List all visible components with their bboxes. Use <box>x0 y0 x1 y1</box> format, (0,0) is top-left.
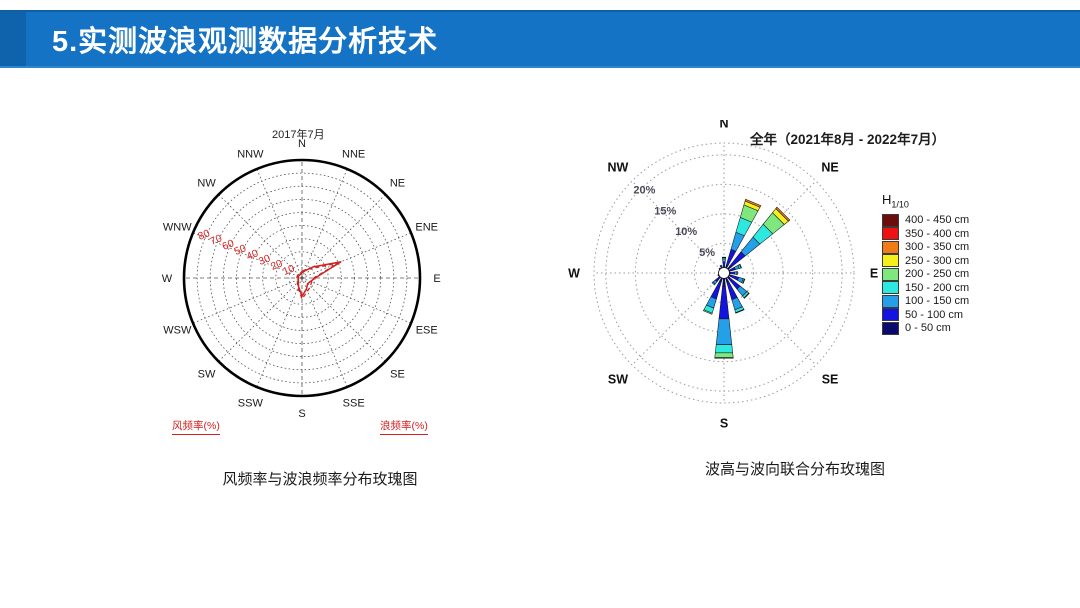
right-ring-label-20pct: 20% <box>633 184 655 196</box>
legend-color-swatch <box>882 308 899 321</box>
rose-petal-segment <box>720 265 722 267</box>
legend-item: 400 - 450 cm <box>882 214 969 228</box>
legend-item-label: 100 - 150 cm <box>905 295 969 307</box>
wave-frequency-tag: 浪频率(%) <box>380 418 428 435</box>
legend-item-label: 150 - 200 cm <box>905 282 969 294</box>
left-ring-label-10: 10 <box>281 262 296 278</box>
left-direction-label-S: S <box>298 408 305 420</box>
wind-wave-frequency-rose: NNNENEENEEESESESSESSSWSWWSWWWNWNWNNW1020… <box>150 120 490 430</box>
left-chart-title: 2017年7月 <box>272 126 325 142</box>
right-direction-label-W: W <box>568 267 580 281</box>
right-ring-label-15pct: 15% <box>654 205 676 217</box>
right-direction-label-SE: SE <box>822 373 839 387</box>
rose-petal-segment <box>723 262 725 267</box>
legend-item: 100 - 150 cm <box>882 295 969 309</box>
left-direction-label-WNW: WNW <box>163 221 192 233</box>
slide-title-banner: 5.实测波浪观测数据分析技术 <box>0 10 1080 68</box>
legend-item-label: 250 - 300 cm <box>905 255 969 267</box>
legend-item: 50 - 100 cm <box>882 308 969 322</box>
rose-petal-segment <box>715 353 733 358</box>
rose-petal-segment <box>715 345 732 353</box>
legend-color-swatch <box>882 268 899 281</box>
right-direction-label-N: N <box>719 120 728 131</box>
left-direction-label-ENE: ENE <box>415 221 438 233</box>
rose-petal-segment <box>715 358 734 359</box>
right-direction-label-NE: NE <box>821 160 838 174</box>
left-direction-label-NW: NW <box>197 178 216 190</box>
right-ring-label-5pct: 5% <box>699 247 715 259</box>
legend-item: 350 - 400 cm <box>882 227 969 241</box>
right-ring-label-10pct: 10% <box>675 226 697 238</box>
wind-frequency-tag: 风频率(%) <box>172 418 220 435</box>
legend-color-swatch <box>882 295 899 308</box>
left-chart-caption: 风频率与波浪频率分布玫瑰图 <box>150 468 490 489</box>
left-direction-label-E: E <box>433 273 440 285</box>
rose-petal-segment <box>737 272 738 275</box>
right-direction-label-S: S <box>720 417 728 431</box>
left-direction-label-SSE: SSE <box>343 398 365 410</box>
right-chart-panel: 全年（2021年8月 - 2022年7月） NNEESESSWWNW5%10%1… <box>560 120 1030 500</box>
left-direction-label-SE: SE <box>390 368 405 380</box>
right-direction-label-SW: SW <box>608 373 628 387</box>
left-direction-label-W: W <box>162 273 173 285</box>
banner-left-edge <box>0 12 26 66</box>
wave-height-direction-rose: NNEESESSWWNW5%10%15%20% <box>560 120 890 440</box>
left-direction-label-WSW: WSW <box>163 325 192 337</box>
legend-header-sub: 1/10 <box>891 200 909 210</box>
rose-petal-segment <box>723 259 726 262</box>
legend-item: 300 - 350 cm <box>882 241 969 255</box>
legend-color-swatch <box>882 214 899 227</box>
legend-item-label: 400 - 450 cm <box>905 214 969 226</box>
legend-item: 150 - 200 cm <box>882 281 969 295</box>
legend-item-label: 50 - 100 cm <box>905 309 963 321</box>
legend-item: 250 - 300 cm <box>882 254 969 268</box>
right-chart-caption: 波高与波向联合分布玫瑰图 <box>560 458 1030 479</box>
rose-petal-segment <box>729 272 734 274</box>
left-direction-label-NNW: NNW <box>237 148 264 160</box>
legend-color-swatch <box>882 281 899 294</box>
legend-color-swatch <box>882 322 899 335</box>
legend-item-label: 350 - 400 cm <box>905 228 969 240</box>
rose-petal-segment <box>735 272 737 275</box>
left-direction-label-ESE: ESE <box>416 325 438 337</box>
legend-item-label: 300 - 350 cm <box>905 241 969 253</box>
legend-item: 200 - 250 cm <box>882 268 969 282</box>
legend-item-label: 0 - 50 cm <box>905 322 951 334</box>
legend-color-swatch <box>882 254 899 267</box>
left-direction-label-NE: NE <box>390 178 405 190</box>
rose-petal-segment <box>716 319 732 345</box>
legend-header: H1/10 <box>882 192 969 210</box>
left-chart-panel: 2017年7月 NNNENEENEEESESESSESSSWSWWSWWWNWN… <box>150 120 490 500</box>
wave-height-legend: H1/10 400 - 450 cm350 - 400 cm300 - 350 … <box>882 192 969 335</box>
right-chart-title: 全年（2021年8月 - 2022年7月） <box>750 128 945 148</box>
legend-header-main: H <box>882 192 891 207</box>
right-direction-label-E: E <box>870 267 878 281</box>
rose-petal-segment <box>711 281 721 299</box>
page-title: 5.实测波浪观测数据分析技术 <box>52 18 438 60</box>
legend-color-swatch <box>882 241 899 254</box>
left-direction-label-SW: SW <box>198 368 216 380</box>
rose-petal-segment <box>722 257 725 258</box>
left-direction-label-NNE: NNE <box>342 148 365 160</box>
left-series-1 <box>298 262 341 297</box>
left-direction-label-SSW: SSW <box>238 398 264 410</box>
right-direction-label-NW: NW <box>608 160 629 174</box>
legend-item-label: 200 - 250 cm <box>905 268 969 280</box>
legend-item: 0 - 50 cm <box>882 322 969 336</box>
rose-petal-segment <box>719 287 729 319</box>
legend-color-swatch <box>882 227 899 240</box>
